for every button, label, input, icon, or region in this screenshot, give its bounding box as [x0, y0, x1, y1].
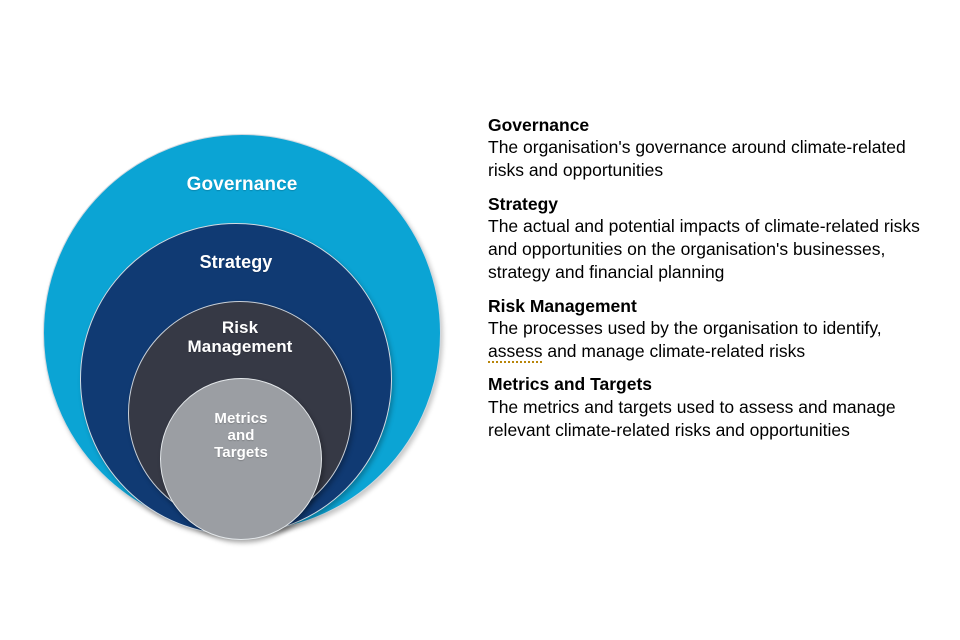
legend-item-governance: Governance The organisation's governance…	[488, 114, 940, 182]
nested-circles-diagram: Governance Strategy Risk Management Metr…	[0, 0, 480, 640]
legend-description-risk-management: The processes used by the organisation t…	[488, 317, 940, 363]
legend-title-metrics-and-targets: Metrics and Targets	[488, 373, 940, 395]
legend-description-strategy: The actual and potential impacts of clim…	[488, 215, 940, 283]
legend-panel: Governance The organisation's governance…	[488, 114, 940, 441]
legend-description-metrics-and-targets: The metrics and targets used to assess a…	[488, 396, 940, 442]
legend-title-strategy: Strategy	[488, 193, 940, 215]
legend-description-risk-management-part2: and manage climate-related risks	[542, 341, 805, 361]
circle-metrics-and-targets: Metrics and Targets	[160, 378, 322, 540]
legend-title-risk-management: Risk Management	[488, 295, 940, 317]
legend-title-governance: Governance	[488, 114, 940, 136]
legend-description-risk-management-part1: The processes used by the organisation t…	[488, 318, 882, 338]
legend-item-metrics-and-targets: Metrics and Targets The metrics and targ…	[488, 373, 940, 441]
legend-item-risk-management: Risk Management The processes used by th…	[488, 295, 940, 363]
circle-label-governance: Governance	[187, 174, 298, 195]
circle-label-risk-management: Risk Management	[188, 318, 293, 356]
circle-label-strategy: Strategy	[200, 252, 273, 272]
circle-label-metrics-and-targets: Metrics and Targets	[214, 411, 268, 461]
legend-description-governance: The organisation's governance around cli…	[488, 136, 940, 182]
diagram-page: Governance Strategy Risk Management Metr…	[0, 0, 960, 640]
spellcheck-underlined-word: assess	[488, 341, 542, 363]
legend-item-strategy: Strategy The actual and potential impact…	[488, 193, 940, 284]
